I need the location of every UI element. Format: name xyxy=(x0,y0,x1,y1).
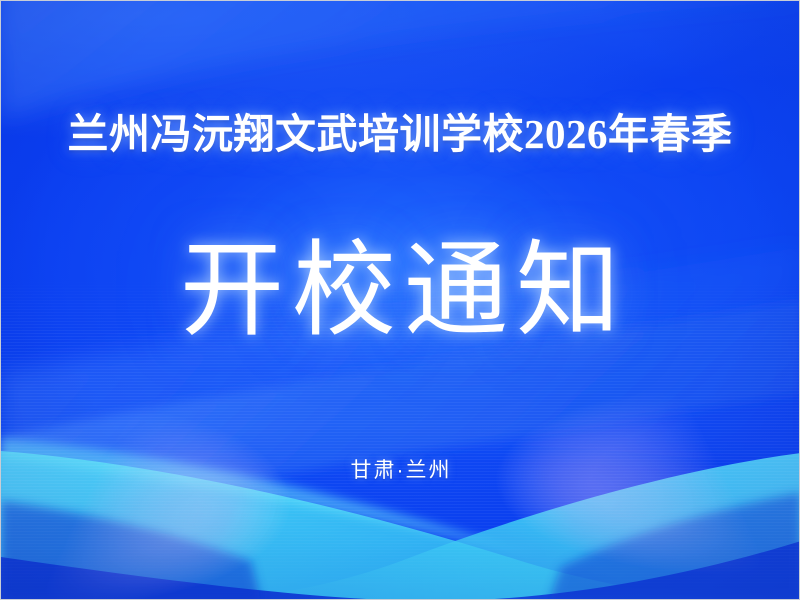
poster-title: 兰州冯沅翔文武培训学校2026年春季 xyxy=(1,114,799,155)
poster-canvas: 兰州冯沅翔文武培训学校2026年春季 开校通知 甘肃·兰州 xyxy=(0,0,800,600)
poster-headline: 开校通知 xyxy=(1,239,799,343)
poster-content: 兰州冯沅翔文武培训学校2026年春季 开校通知 甘肃·兰州 xyxy=(1,1,799,599)
poster-subtitle-location: 甘肃·兰州 xyxy=(1,460,799,481)
